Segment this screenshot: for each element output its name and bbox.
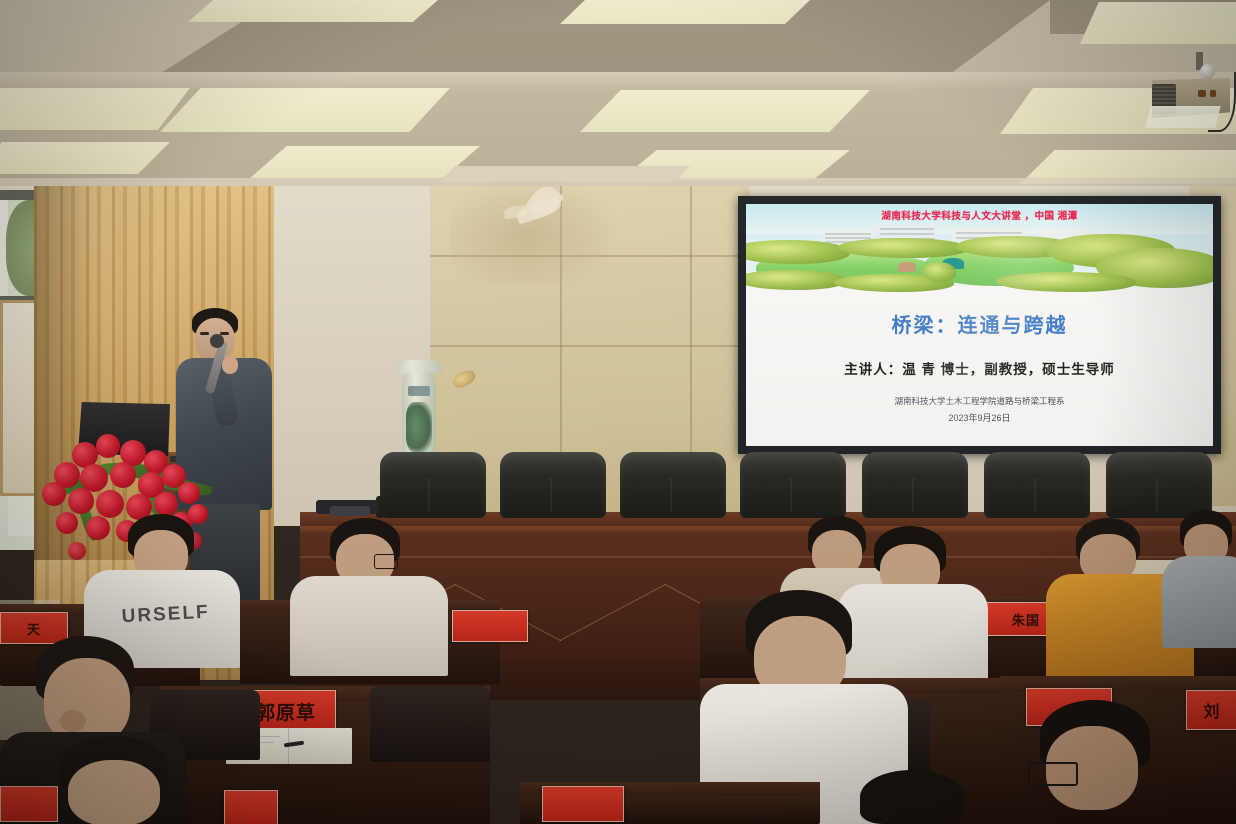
crane-icon xyxy=(498,182,578,242)
audience-member xyxy=(1162,510,1236,630)
slide-banner: 湖南科技大学科技与人文大讲堂 ，中国 湘潭 xyxy=(881,208,1077,222)
stage-table-item xyxy=(330,506,370,516)
audience-chair xyxy=(370,686,490,762)
executive-chair xyxy=(740,452,846,518)
executive-chair xyxy=(380,452,486,518)
slide-affiliation: 湖南科技大学土木工程学院道路与桥梁工程系 xyxy=(894,395,1064,407)
lecture-hall-photo: 湖南科技大学科技与人文大讲堂 ，中国 湘潭 xyxy=(0,0,1236,824)
executive-chair xyxy=(500,452,606,518)
ceiling-light-panel xyxy=(0,142,170,174)
slide-speaker-line: 主讲人：温 青 博士，副教授，硕士生导师 xyxy=(844,358,1115,378)
ceiling-light-panel xyxy=(188,0,438,22)
ceiling-light-panel xyxy=(1080,2,1236,44)
glasses-icon xyxy=(1028,762,1078,786)
slide-title: 桥梁：连通与跨越 xyxy=(892,309,1068,338)
name-placard: 刘 xyxy=(1186,690,1236,730)
presentation-slide: 湖南科技大学科技与人文大讲堂 ，中国 湘潭 xyxy=(746,204,1213,446)
executive-chair xyxy=(984,452,1090,518)
ceiling-light-panel xyxy=(580,90,870,132)
placard-name: 刘 xyxy=(1203,698,1220,722)
audience-member xyxy=(840,770,990,824)
ceiling-light-panel xyxy=(560,0,810,24)
audience-member xyxy=(1010,700,1190,824)
framed-wall-art xyxy=(0,300,38,496)
ceiling-light-panel xyxy=(160,88,450,132)
audience-member xyxy=(28,736,208,824)
executive-chair xyxy=(620,452,726,518)
ceiling-light-panel xyxy=(250,146,480,178)
placard-name: 朱国 xyxy=(1012,610,1040,629)
placard-name: 天 xyxy=(27,619,41,638)
glasses-icon xyxy=(374,554,398,569)
name-placard xyxy=(542,786,624,822)
audience-member: URSELF xyxy=(84,514,244,654)
executive-chair xyxy=(862,452,968,518)
audience-member xyxy=(290,518,450,658)
name-placard xyxy=(452,610,528,642)
ceiling-light-panel xyxy=(0,88,190,130)
placard-name: 郭原草 xyxy=(256,698,316,725)
shirt-text: URSELF xyxy=(117,602,215,641)
slide-date: 2023年9月26日 xyxy=(948,411,1010,424)
projector-light-beam xyxy=(1145,106,1220,128)
presenter-hand xyxy=(222,356,238,374)
executive-chair xyxy=(1106,452,1212,518)
name-placard xyxy=(224,790,278,824)
